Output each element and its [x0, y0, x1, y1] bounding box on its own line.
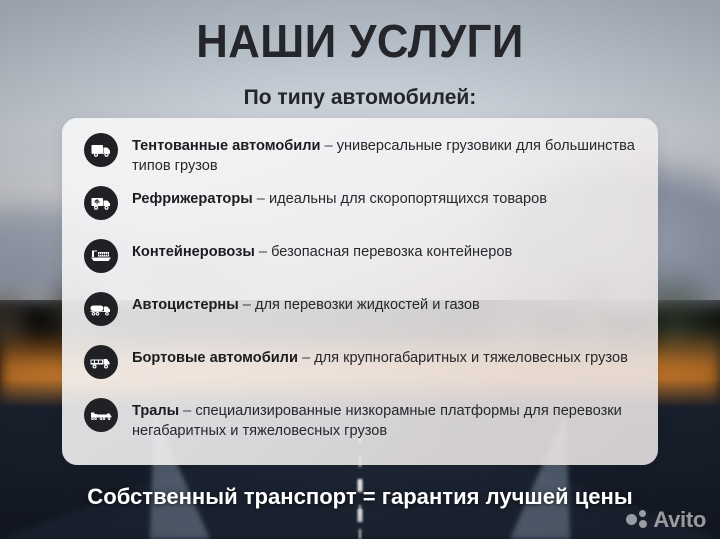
- list-item: Бортовые автомобили – для крупногабаритн…: [84, 343, 640, 396]
- list-item-description: специализированные низкорамные платформы…: [132, 403, 622, 439]
- list-item-term: Контейнеровозы: [132, 244, 255, 260]
- promo-banner: НАШИ УСЛУГИ По типу автомобилей: Тентова…: [0, 0, 720, 539]
- list-item-description: безопасная перевозка контейнеров: [271, 244, 512, 260]
- list-item: Автоцистерны – для перевозки жидкостей и…: [84, 290, 640, 343]
- list-item-dash: –: [239, 297, 255, 313]
- list-item-dash: –: [255, 244, 271, 260]
- box-truck-icon: [84, 133, 118, 167]
- page-subtitle: По типу автомобилей:: [0, 85, 720, 111]
- list-item-description: для перевозки жидкостей и газов: [255, 297, 480, 313]
- list-item-text: Бортовые автомобили – для крупногабаритн…: [132, 343, 640, 368]
- tanker-truck-icon: [84, 292, 118, 326]
- list-item: Рефрижераторы – идеальны для скоропортящ…: [84, 184, 640, 237]
- container-ship-icon: [84, 239, 118, 273]
- list-item-text: Контейнеровозы – безопасная перевозка ко…: [132, 237, 640, 262]
- list-item-text: Автоцистерны – для перевозки жидкостей и…: [132, 290, 640, 315]
- flatbed-truck-icon: [84, 345, 118, 379]
- list-item-description: для крупногабаритных и тяжеловесных груз…: [314, 350, 628, 366]
- avito-dots-icon: [626, 510, 648, 530]
- bottom-tagline: Собственный транспорт = гарантия лучшей …: [7, 483, 713, 511]
- list-item-dash: –: [298, 350, 314, 366]
- list-item-term: Бортовые автомобили: [132, 350, 298, 366]
- list-item-text: Тентованные автомобили – универсальные г…: [132, 131, 640, 176]
- avito-wordmark: Avito: [653, 509, 706, 531]
- list-item-dash: –: [179, 403, 195, 419]
- list-item-term: Автоцистерны: [132, 297, 239, 313]
- list-item: Тентованные автомобили – универсальные г…: [84, 131, 640, 184]
- page-title: НАШИ УСЛУГИ: [18, 16, 702, 66]
- list-item: Контейнеровозы – безопасная перевозка ко…: [84, 237, 640, 290]
- lowboy-trailer-icon: [84, 398, 118, 432]
- list-item-dash: –: [253, 191, 269, 207]
- services-card: Тентованные автомобили – универсальные г…: [62, 118, 658, 465]
- avito-watermark: Avito: [626, 509, 706, 531]
- refrigerated-truck-icon: [84, 186, 118, 220]
- list-item-term: Тентованные автомобили: [132, 138, 320, 154]
- list-item-dash: –: [320, 138, 336, 154]
- list-item-term: Рефрижераторы: [132, 191, 253, 207]
- list-item-description: идеальны для скоропортящихся товаров: [269, 191, 547, 207]
- list-item-text: Рефрижераторы – идеальны для скоропортящ…: [132, 184, 640, 209]
- list-item-text: Тралы – специализированные низкорамные п…: [132, 396, 640, 441]
- services-list: Тентованные автомобили – универсальные г…: [84, 131, 640, 449]
- list-item-term: Тралы: [132, 403, 179, 419]
- list-item: Тралы – специализированные низкорамные п…: [84, 396, 640, 449]
